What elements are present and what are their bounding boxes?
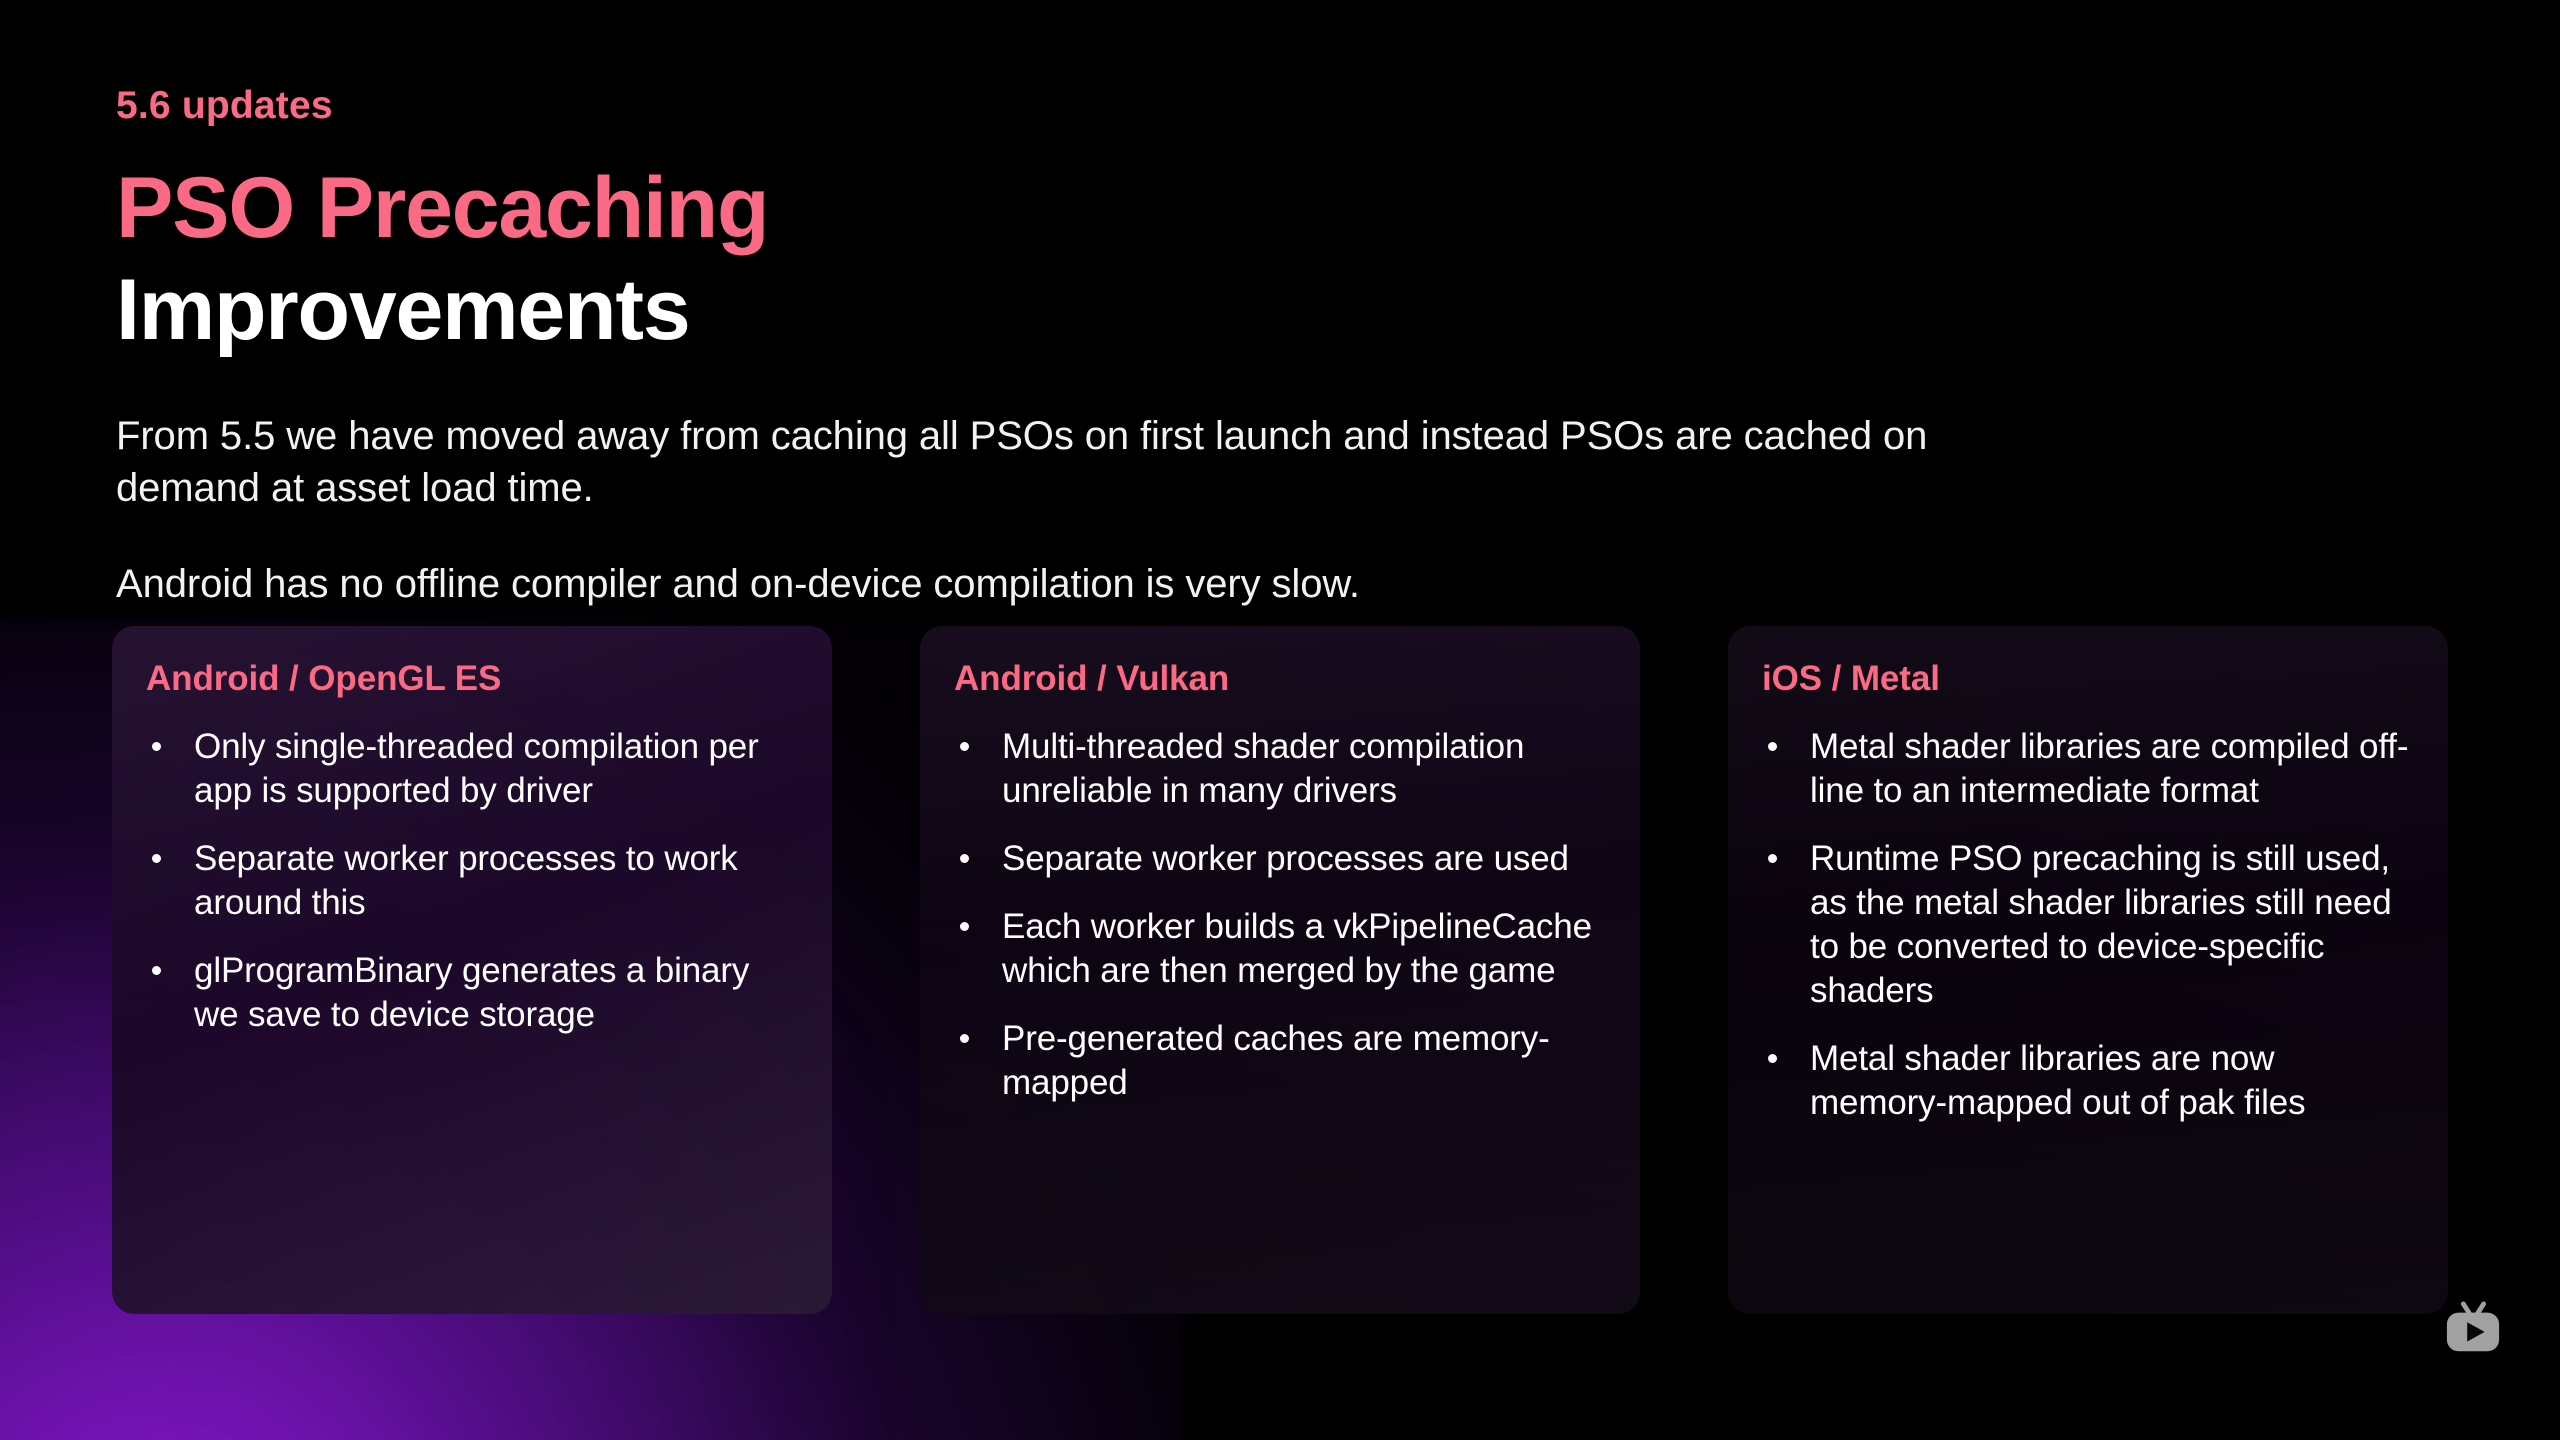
list-item: Separate worker processes to work around… (146, 837, 798, 925)
list-item-text: Only single-threaded compilation per app… (194, 727, 759, 810)
list-item: Multi-threaded shader compilation unreli… (954, 725, 1606, 813)
bullet-dot-icon (1768, 742, 1777, 751)
bullet-list: Multi-threaded shader compilation unreli… (954, 725, 1606, 1106)
bullet-dot-icon (960, 742, 969, 751)
card-title: Android / Vulkan (954, 660, 1606, 699)
slide-header: 5.6 updates PSO Precaching Improvements (116, 86, 1816, 353)
card-android-vulkan: Android / Vulkan Multi-threaded shader c… (920, 626, 1640, 1314)
list-item: Runtime PSO precaching is still used, as… (1762, 837, 2414, 1013)
bullet-dot-icon (1768, 1054, 1777, 1063)
list-item-text: Metal shader libraries are now memory-ma… (1810, 1039, 2305, 1122)
list-item: glProgramBinary generates a binary we sa… (146, 949, 798, 1037)
slide-root: 5.6 updates PSO Precaching Improvements … (0, 0, 2560, 1440)
eyebrow-label: 5.6 updates (116, 86, 1816, 127)
list-item-text: Separate worker processes to work around… (194, 839, 738, 922)
bullet-dot-icon (152, 742, 161, 751)
page-title: PSO Precaching Improvements (116, 165, 1816, 353)
list-item: Separate worker processes are used (954, 837, 1606, 881)
list-item-text: Multi-threaded shader compilation unreli… (1002, 727, 1524, 810)
card-ios-metal: iOS / Metal Metal shader libraries are c… (1728, 626, 2448, 1314)
bullet-dot-icon (960, 854, 969, 863)
lead-text-block: From 5.5 we have moved away from caching… (116, 410, 1946, 610)
card-grid: Android / OpenGL ES Only single-threaded… (112, 626, 2448, 1314)
bullet-dot-icon (1768, 854, 1777, 863)
list-item: Metal shader libraries are compiled off-… (1762, 725, 2414, 813)
list-item-text: Pre-generated caches are memory-mapped (1002, 1019, 1550, 1102)
bullet-dot-icon (152, 966, 161, 975)
bullet-list: Metal shader libraries are compiled off-… (1762, 725, 2414, 1126)
list-item: Metal shader libraries are now memory-ma… (1762, 1037, 2414, 1125)
list-item-text: glProgramBinary generates a binary we sa… (194, 951, 749, 1034)
list-item-text: Runtime PSO precaching is still used, as… (1810, 839, 2392, 1010)
lead-paragraph-1: From 5.5 we have moved away from caching… (116, 410, 1946, 514)
list-item: Pre-generated caches are memory-mapped (954, 1017, 1606, 1105)
list-item-text: Metal shader libraries are compiled off-… (1810, 727, 2408, 810)
page-title-line-1: PSO Precaching (116, 165, 1816, 251)
bullet-dot-icon (152, 854, 161, 863)
list-item: Each worker builds a vkPipelineCache whi… (954, 905, 1606, 993)
list-item-text: Each worker builds a vkPipelineCache whi… (1002, 907, 1592, 990)
card-title: iOS / Metal (1762, 660, 2414, 699)
card-android-opengl-es: Android / OpenGL ES Only single-threaded… (112, 626, 832, 1314)
card-title: Android / OpenGL ES (146, 660, 798, 699)
bullet-dot-icon (960, 922, 969, 931)
bullet-list: Only single-threaded compilation per app… (146, 725, 798, 1038)
list-item: Only single-threaded compilation per app… (146, 725, 798, 813)
tv-play-icon (2442, 1300, 2504, 1358)
page-title-line-2: Improvements (116, 267, 1816, 353)
list-item-text: Separate worker processes are used (1002, 839, 1569, 878)
lead-paragraph-2: Android has no offline compiler and on-d… (116, 558, 1946, 610)
bullet-dot-icon (960, 1034, 969, 1043)
